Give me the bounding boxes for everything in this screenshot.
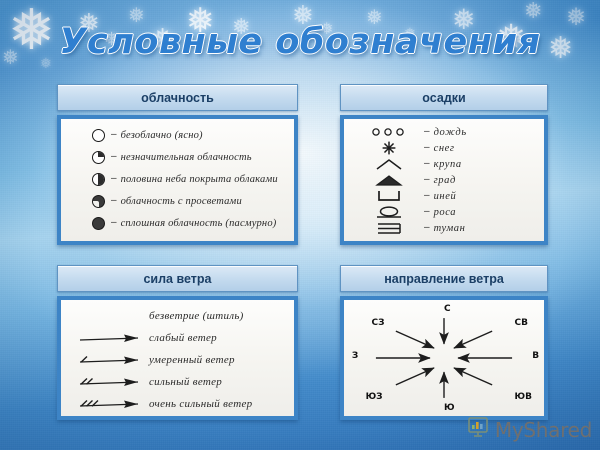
- panel-cloudiness: –безоблачно (ясно)–незначительная облачн…: [57, 115, 298, 245]
- fog-lines-icon: [364, 221, 414, 235]
- precipitation-row: –крупа: [350, 156, 538, 172]
- dash-separator: –: [414, 206, 434, 219]
- arrow-2-barb-icon: [75, 373, 149, 391]
- graupel-triangle-outline-icon: [364, 157, 414, 171]
- precipitation-row: –роса: [350, 204, 538, 220]
- dash-separator: –: [414, 222, 434, 235]
- cloudiness-label: облачность с просветами: [121, 196, 242, 207]
- cloudiness-item-list: –безоблачно (ясно)–незначительная облачн…: [61, 119, 294, 241]
- cloudiness-label: сплошная облачность (пасмурно): [121, 218, 277, 229]
- compass-label-southwest: ЮЗ: [366, 392, 383, 402]
- cloudiness-row: –незначительная облачность: [67, 146, 288, 168]
- compass-label-northeast: СВ: [515, 318, 528, 328]
- circle-full-icon: [89, 217, 107, 230]
- wind-force-label: сильный ветер: [149, 376, 222, 388]
- header-precipitation[interactable]: осадки: [340, 84, 548, 111]
- dash-separator: –: [414, 190, 434, 203]
- cloudiness-row: –безоблачно (ясно): [67, 124, 288, 146]
- wind-force-label: слабый ветер: [149, 332, 217, 344]
- wind-force-item-list: безветрие (штиль)слабый ветерумеренный в…: [61, 300, 294, 416]
- compass-arrow-northwest: [396, 331, 434, 348]
- compass-label-northwest: СЗ: [371, 318, 384, 328]
- wind-force-label: безветрие (штиль): [149, 310, 244, 322]
- cloudiness-row: –половина неба покрыта облаками: [67, 168, 288, 190]
- header-precipitation-label: осадки: [422, 91, 465, 105]
- cloudiness-row: –сплошная облачность (пасмурно): [67, 212, 288, 234]
- precipitation-label: иней: [434, 191, 457, 202]
- cloudiness-label: половина неба покрыта облаками: [121, 174, 278, 185]
- cloudiness-label: безоблачно (ясно): [121, 130, 203, 141]
- wind-force-row: очень сильный ветер: [67, 393, 288, 415]
- precipitation-row: –иней: [350, 188, 538, 204]
- compass-arrow-southeast: [454, 368, 492, 385]
- compass-arrow-southwest: [396, 368, 434, 385]
- wind-force-row: слабый ветер: [67, 327, 288, 349]
- wind-force-row: умеренный ветер: [67, 349, 288, 371]
- panel-wind-force: безветрие (штиль)слабый ветерумеренный в…: [57, 296, 298, 420]
- frost-bracket-icon: [364, 189, 414, 203]
- arrow-3-barb-icon: [75, 395, 149, 413]
- circle-quarter-icon: [89, 151, 107, 164]
- precipitation-row: –град: [350, 172, 538, 188]
- compass-arrow-northeast: [454, 331, 492, 348]
- header-wind-force-label: сила ветра: [143, 272, 211, 286]
- dash-separator: –: [107, 217, 121, 230]
- no-arrow-icon: [75, 307, 149, 325]
- circle-empty-icon: [89, 129, 107, 142]
- watermark: MyShared: [466, 415, 592, 444]
- precipitation-label: снег: [434, 143, 455, 154]
- arrow-0-barb-icon: [75, 329, 149, 347]
- dash-separator: –: [414, 142, 434, 155]
- arrow-1-barb-icon: [75, 351, 149, 369]
- header-cloudiness-label: облачность: [141, 91, 214, 105]
- wind-force-label: очень сильный ветер: [149, 398, 252, 410]
- precipitation-row: –дождь: [350, 124, 538, 140]
- precipitation-row: –снег: [350, 140, 538, 156]
- header-wind-force[interactable]: сила ветра: [57, 265, 298, 292]
- precipitation-label: туман: [434, 223, 466, 234]
- wind-force-label: умеренный ветер: [149, 354, 235, 366]
- compass-rose: ССВВЮВЮЮЗЗСЗ: [346, 302, 542, 414]
- precipitation-label: град: [434, 175, 456, 186]
- compass-label-south: Ю: [444, 403, 455, 413]
- cloudiness-label: незначительная облачность: [121, 152, 252, 163]
- watermark-label: MyShared: [495, 418, 592, 442]
- dash-separator: –: [414, 174, 434, 187]
- dash-separator: –: [107, 195, 121, 208]
- wind-force-row: безветрие (штиль): [67, 305, 288, 327]
- precipitation-row: –туман: [350, 220, 538, 236]
- header-cloudiness[interactable]: облачность: [57, 84, 298, 111]
- dash-separator: –: [107, 173, 121, 186]
- snow-asterisk-icon: [364, 141, 414, 155]
- header-wind-direction-label: направление ветра: [384, 272, 504, 286]
- precipitation-label: дождь: [434, 127, 467, 138]
- dew-oval-line-icon: [364, 205, 414, 219]
- compass-label-east: В: [532, 351, 539, 361]
- precipitation-item-list: –дождь–снег–крупа–град–иней–роса–туман: [344, 119, 544, 241]
- rain-circles-icon: [364, 125, 414, 139]
- dash-separator: –: [107, 151, 121, 164]
- circle-three-quarter-icon: [89, 195, 107, 208]
- header-wind-direction[interactable]: направление ветра: [340, 265, 548, 292]
- panel-wind-direction: ССВВЮВЮЮЗЗСЗ: [340, 296, 548, 420]
- page-title: Условные обозначения: [0, 22, 600, 62]
- panel-precipitation: –дождь–снег–крупа–град–иней–роса–туман: [340, 115, 548, 245]
- wind-force-row: сильный ветер: [67, 371, 288, 393]
- presentation-chart-icon: [466, 415, 490, 444]
- precipitation-label: роса: [434, 207, 457, 218]
- dash-separator: –: [107, 129, 121, 142]
- dash-separator: –: [414, 126, 434, 139]
- compass-label-west: З: [352, 351, 358, 361]
- precipitation-label: крупа: [434, 159, 462, 170]
- compass-label-north: С: [444, 304, 451, 314]
- cloudiness-row: –облачность с просветами: [67, 190, 288, 212]
- hail-triangle-filled-icon: [364, 173, 414, 187]
- dash-separator: –: [414, 158, 434, 171]
- circle-half-icon: [89, 173, 107, 186]
- compass-label-southeast: ЮВ: [515, 392, 532, 402]
